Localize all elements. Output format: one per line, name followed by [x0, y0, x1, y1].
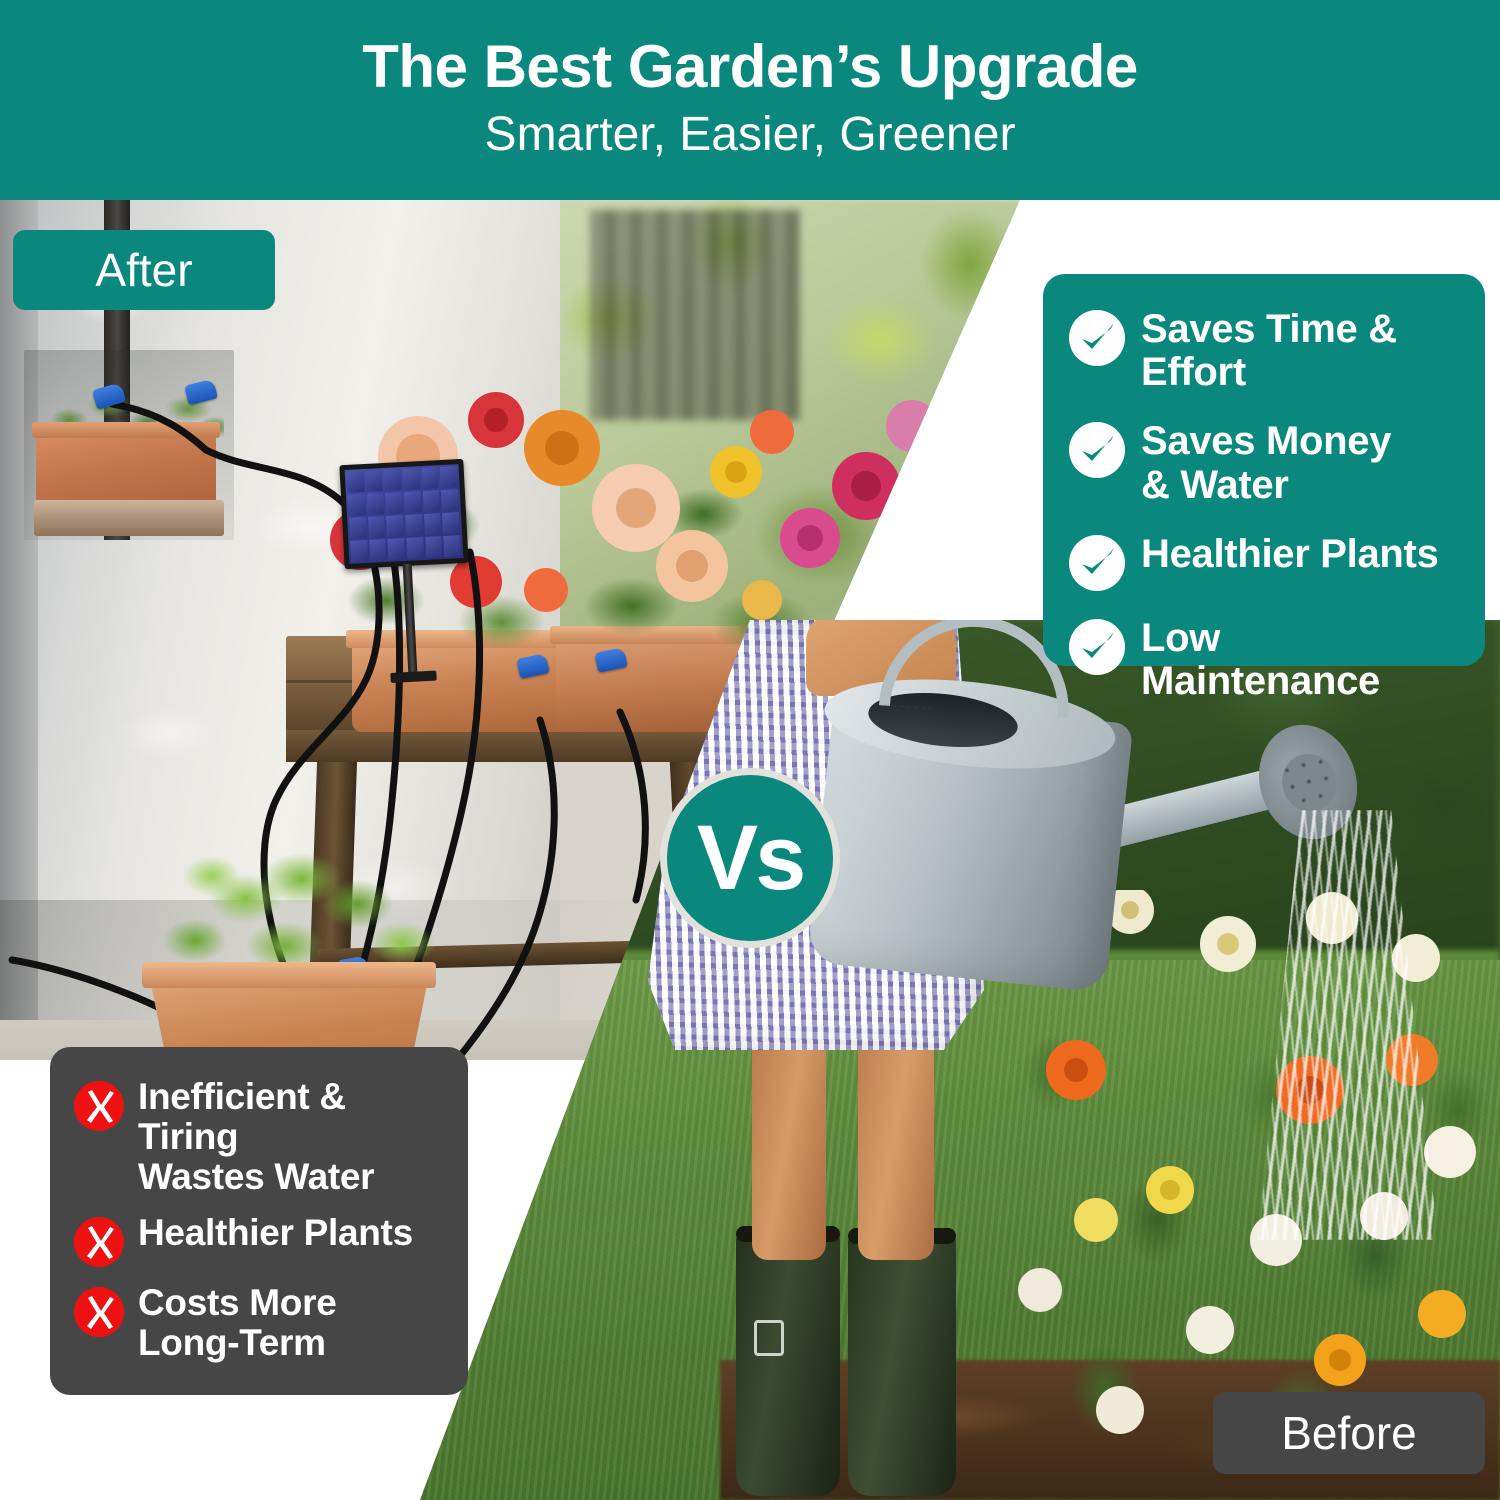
pros-item: Low Maintenance: [1069, 617, 1459, 703]
cons-item: Costs More Long-Term: [74, 1283, 444, 1363]
x-circle-icon: [74, 1217, 124, 1267]
leg-right: [858, 1020, 934, 1260]
cons-item-label: Costs More Long-Term: [138, 1283, 336, 1363]
x-circle-icon: [74, 1081, 124, 1131]
check-circle-icon: [1069, 535, 1125, 591]
badge-after-label: After: [95, 243, 192, 297]
boot-logo-tag: [754, 1320, 784, 1356]
leg-left: [752, 1020, 826, 1260]
rubber-boot-right: [848, 1232, 956, 1496]
versus-badge: Vs: [660, 768, 840, 948]
rubber-boot-left: [736, 1230, 840, 1496]
cons-item: Inefficient & Tiring Wastes Water: [74, 1077, 444, 1197]
x-circle-icon: [74, 1287, 124, 1337]
pros-item-label: Saves Time & Effort: [1141, 308, 1397, 394]
check-circle-icon: [1069, 422, 1125, 478]
page-title: The Best Garden’s Upgrade: [362, 37, 1137, 97]
solar-cells: [345, 464, 464, 564]
versus-label: Vs: [697, 812, 804, 904]
cons-item-label: Inefficient & Tiring Wastes Water: [138, 1077, 444, 1197]
page-subtitle: Smarter, Easier, Greener: [485, 111, 1016, 159]
header-banner: The Best Garden’s Upgrade Smarter, Easie…: [0, 0, 1500, 200]
badge-before-label: Before: [1281, 1406, 1417, 1460]
pros-item-label: Saves Money & Water: [1141, 420, 1391, 506]
solar-panel: [339, 459, 468, 569]
pros-item-label: Healthier Plants: [1141, 533, 1439, 576]
pros-item: Healthier Plants: [1069, 533, 1459, 591]
pros-item: Saves Time & Effort: [1069, 308, 1459, 394]
shrub-pot-rim: [142, 962, 436, 988]
pros-item-label: Low Maintenance: [1141, 617, 1459, 703]
badge-after: After: [13, 230, 275, 310]
pros-panel: Saves Time & Effort Saves Money & Water …: [1043, 274, 1485, 666]
check-circle-icon: [1069, 310, 1125, 366]
cons-item: Healthier Plants: [74, 1213, 444, 1267]
infographic-canvas: The Best Garden’s Upgrade Smarter, Easie…: [0, 0, 1500, 1500]
pros-item: Saves Money & Water: [1069, 420, 1459, 506]
cons-item-label: Healthier Plants: [138, 1213, 413, 1253]
check-circle-icon: [1069, 619, 1125, 675]
solar-panel-assembly: [339, 459, 468, 569]
badge-before: Before: [1213, 1392, 1485, 1474]
cons-panel: Inefficient & Tiring Wastes Water Health…: [50, 1047, 468, 1395]
